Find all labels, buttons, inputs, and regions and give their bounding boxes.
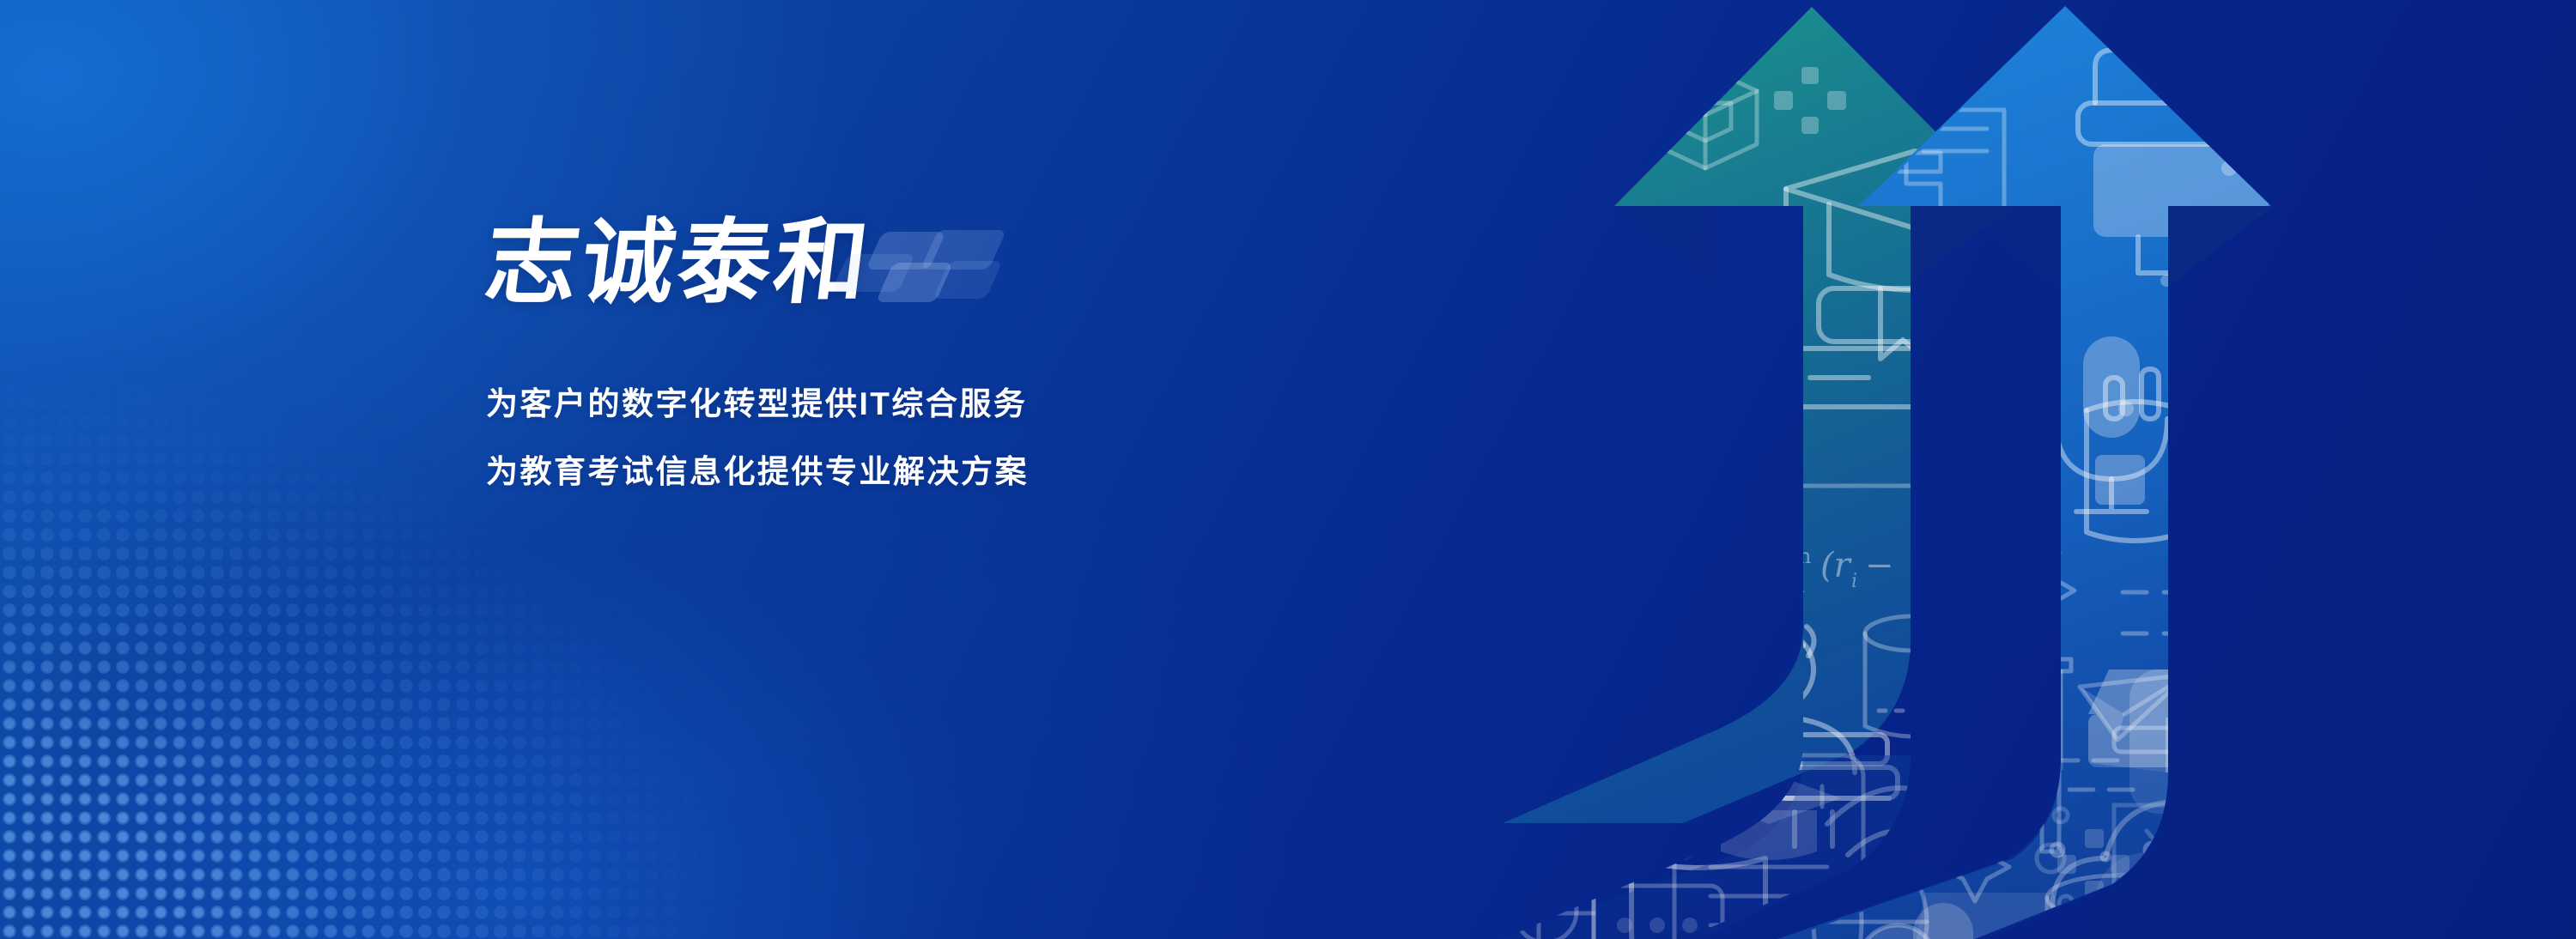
arrows-illustration: .ic { fill:none; stroke:rgba(255,255,255… [1374,0,2576,939]
svg-text:Σ: Σ [1777,546,1801,585]
svg-text:n: n [1798,544,1811,568]
subtitle-line-2: 为教育考试信息化提供专业解决方案 [486,456,1345,488]
subtitle-line-1: 为客户的数字化转型提供IT综合服务 [486,388,1345,420]
logo-mark-parallelograms [840,225,1003,299]
svg-text:(r: (r [1820,546,1853,585]
svg-text:−: − [1865,546,1894,585]
hero-banner: .ic { fill:none; stroke:rgba(255,255,255… [0,0,2576,939]
svg-text:i: i [1798,573,1805,597]
svg-text:n: n [1985,587,2003,620]
brand-title: 志诚泰和 [480,216,876,309]
title-row: 志诚泰和 [486,203,1345,323]
svg-text:i: i [1851,571,1857,592]
hero-text-block: 志诚泰和 为客户的数字化转型提供IT综合服务 为教育考试信息化提供专业解决方案 [486,203,1345,488]
svg-text:r̄ )²: r̄ )² [1918,546,1972,585]
svg-text:AI: AI [2223,890,2273,936]
